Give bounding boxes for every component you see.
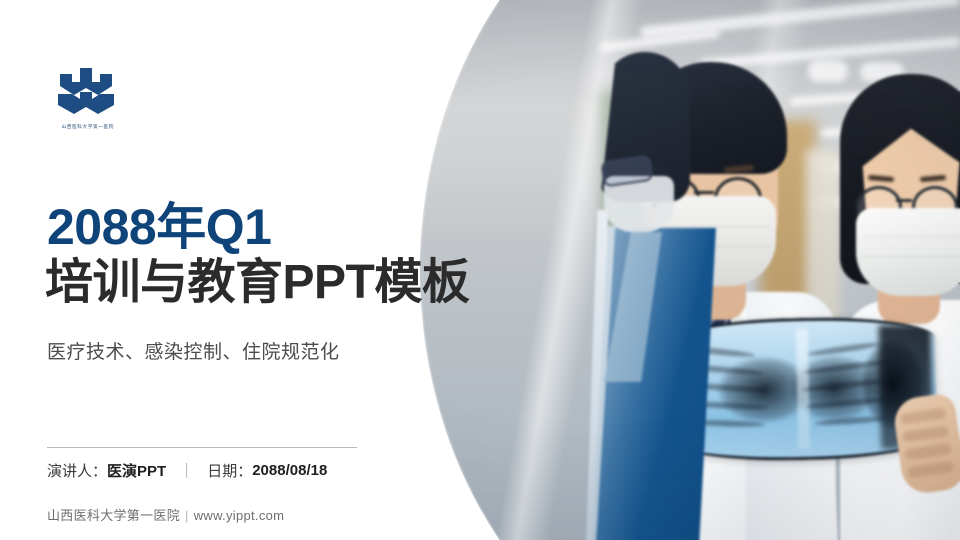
presenter-meta-row: 演讲人： 医演PPT 日期： 2088/08/18 <box>47 460 327 481</box>
xray-rib <box>806 396 890 410</box>
ceiling-light-icon <box>808 60 848 82</box>
hospital-logo-mark <box>50 68 122 120</box>
content-divider <box>47 447 357 448</box>
hospital-logo: 山西医科大学第一医院 <box>50 68 122 130</box>
page-title-line-2: 培训与教育PPT模板 <box>45 259 469 307</box>
face-mask-icon <box>856 208 960 296</box>
footer-separator: | <box>185 508 189 523</box>
footer-website[interactable]: www.yippt.com <box>194 508 285 523</box>
xray-rib <box>804 359 888 375</box>
page-title-line-1: 2088年Q1 <box>47 202 271 252</box>
date-value: 2088/08/18 <box>252 462 327 479</box>
xray-rib <box>802 377 890 392</box>
footer-organization: 山西医科大学第一医院 <box>47 508 180 523</box>
meta-separator <box>186 463 187 478</box>
presentation-cover-slide: 山西医科大学第一医院 2088年Q1 培训与教育PPT模板 医疗技术、感染控制、… <box>0 0 960 540</box>
cover-content-area: 山西医科大学第一医院 2088年Q1 培训与教育PPT模板 医疗技术、感染控制、… <box>0 0 430 540</box>
presenter-label: 演讲人： <box>47 460 107 481</box>
footer-credit: 山西医科大学第一医院|www.yippt.com <box>47 505 284 524</box>
xray-rib <box>807 341 881 357</box>
eyeglasses-bridge <box>896 199 912 202</box>
date-label: 日期： <box>207 460 252 481</box>
presenter-value: 医演PPT <box>107 460 166 481</box>
xray-rib <box>815 415 885 426</box>
page-subtitle: 医疗技术、感染控制、住院规范化 <box>47 337 340 364</box>
eyeglasses-bridge <box>694 191 714 194</box>
hospital-logo-caption: 山西医科大学第一医院 <box>50 124 126 130</box>
